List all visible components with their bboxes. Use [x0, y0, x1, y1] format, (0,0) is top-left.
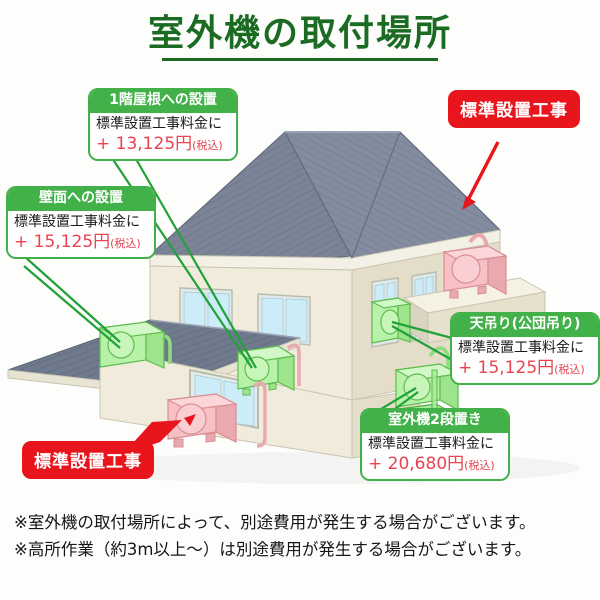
callout-ceiling-hang-unit: 円 — [537, 358, 554, 378]
callout-two-tier-price: + 20,680円(税込) — [368, 453, 502, 475]
callout-roof-1f-header: 1階屋根への設置 — [90, 90, 236, 113]
callout-two-tier-header: 室外機2段置き — [362, 410, 508, 433]
callout-wall-header: 壁面への設置 — [8, 188, 154, 211]
badge-standard-bottom[interactable]: 標準設置工事 — [22, 441, 154, 479]
callout-wall-price: + 15,125円(税込) — [14, 231, 148, 253]
callout-wall-line1: 標準設置工事料金に — [14, 213, 148, 232]
callout-two-tier-line1: 標準設置工事料金に — [368, 435, 502, 454]
page-title: 室外機の取付場所 — [0, 12, 600, 55]
footer-notes: ※室外機の取付場所によって、別途費用が発生する場合がございます。 ※高所作業（約… — [14, 510, 594, 563]
callout-wall[interactable]: 壁面への設置 標準設置工事料金に + 15,125円(税込) — [6, 186, 156, 259]
callout-wall-unit: 円 — [93, 232, 110, 252]
callout-ceiling-hang-amount: + 15,125 — [458, 358, 537, 378]
callout-roof-1f[interactable]: 1階屋根への設置 標準設置工事料金に + 13,125円(税込) — [88, 88, 238, 161]
callout-ceiling-hang-header: 天吊り(公団吊り) — [452, 314, 598, 337]
callout-two-tier-unit: 円 — [447, 454, 464, 474]
badge-standard-top[interactable]: 標準設置工事 — [448, 90, 580, 128]
callout-two-tier[interactable]: 室外機2段置き 標準設置工事料金に + 20,680円(税込) — [360, 408, 510, 481]
callout-ceiling-hang-tax: (税込) — [554, 363, 585, 376]
title-underline — [162, 58, 438, 61]
callout-roof-1f-amount: + 13,125 — [96, 134, 175, 154]
callout-ceiling-hang[interactable]: 天吊り(公団吊り) 標準設置工事料金に + 15,125円(税込) — [450, 312, 600, 385]
callout-wall-amount: + 15,125 — [14, 232, 93, 252]
callout-roof-1f-unit: 円 — [175, 134, 192, 154]
callout-ceiling-hang-price: + 15,125円(税込) — [458, 357, 592, 379]
callout-wall-tax: (税込) — [110, 237, 141, 250]
callout-roof-1f-tax: (税込) — [192, 139, 223, 152]
unit-wall-left — [100, 322, 170, 368]
callout-roof-1f-price: + 13,125円(税込) — [96, 133, 230, 155]
callout-ceiling-hang-line1: 標準設置工事料金に — [458, 339, 592, 358]
callout-roof-1f-line1: 標準設置工事料金に — [96, 115, 230, 134]
footer-note-2: ※高所作業（約3m以上～）は別途費用が発生する場合がございます。 — [14, 537, 594, 564]
unit-ceiling-hang — [372, 298, 410, 343]
callout-two-tier-tax: (税込) — [464, 459, 495, 472]
footer-note-1: ※室外機の取付場所によって、別途費用が発生する場合がございます。 — [14, 510, 594, 537]
callout-two-tier-amount: + 20,680 — [368, 454, 447, 474]
infographic-canvas: 室外機の取付場所 — [0, 0, 600, 600]
